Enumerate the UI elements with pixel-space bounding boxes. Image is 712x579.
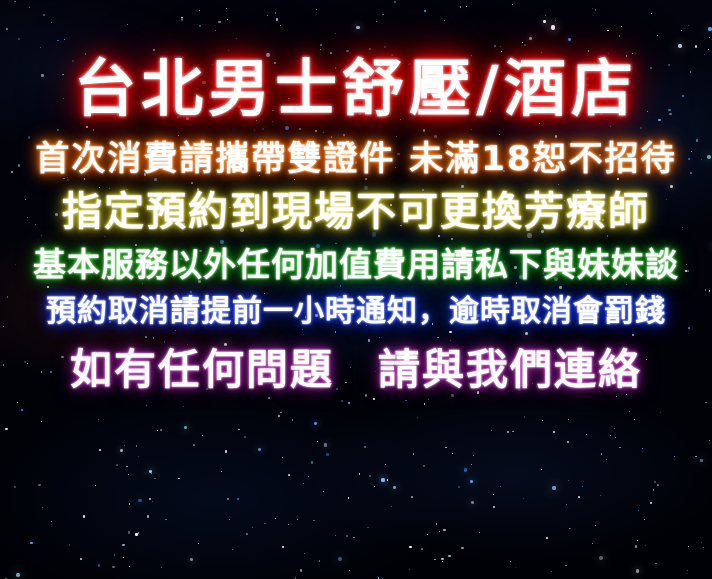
text-stack: 台北男士舒壓/酒店 首次消費請攜帶雙證件 未滿18恕不招待 指定預約到現場不可更…	[0, 0, 712, 579]
contact-prompt-line: 如有任何問題 請與我們連絡	[0, 349, 712, 391]
poster-title: 台北男士舒壓/酒店	[0, 58, 712, 120]
policy-line-therapist: 指定預約到現場不可更換芳療師	[0, 192, 712, 232]
poster-canvas: 台北男士舒壓/酒店 首次消費請攜帶雙證件 未滿18恕不招待 指定預約到現場不可更…	[0, 0, 712, 579]
policy-line-extra-fee: 基本服務以外任何加值費用請私下與妹妹談	[0, 248, 712, 281]
policy-line-cancellation: 預約取消請提前一小時通知，逾時取消會罰錢	[0, 297, 712, 327]
policy-line-age: 首次消費請攜帶雙證件 未滿18恕不招待	[0, 142, 712, 176]
